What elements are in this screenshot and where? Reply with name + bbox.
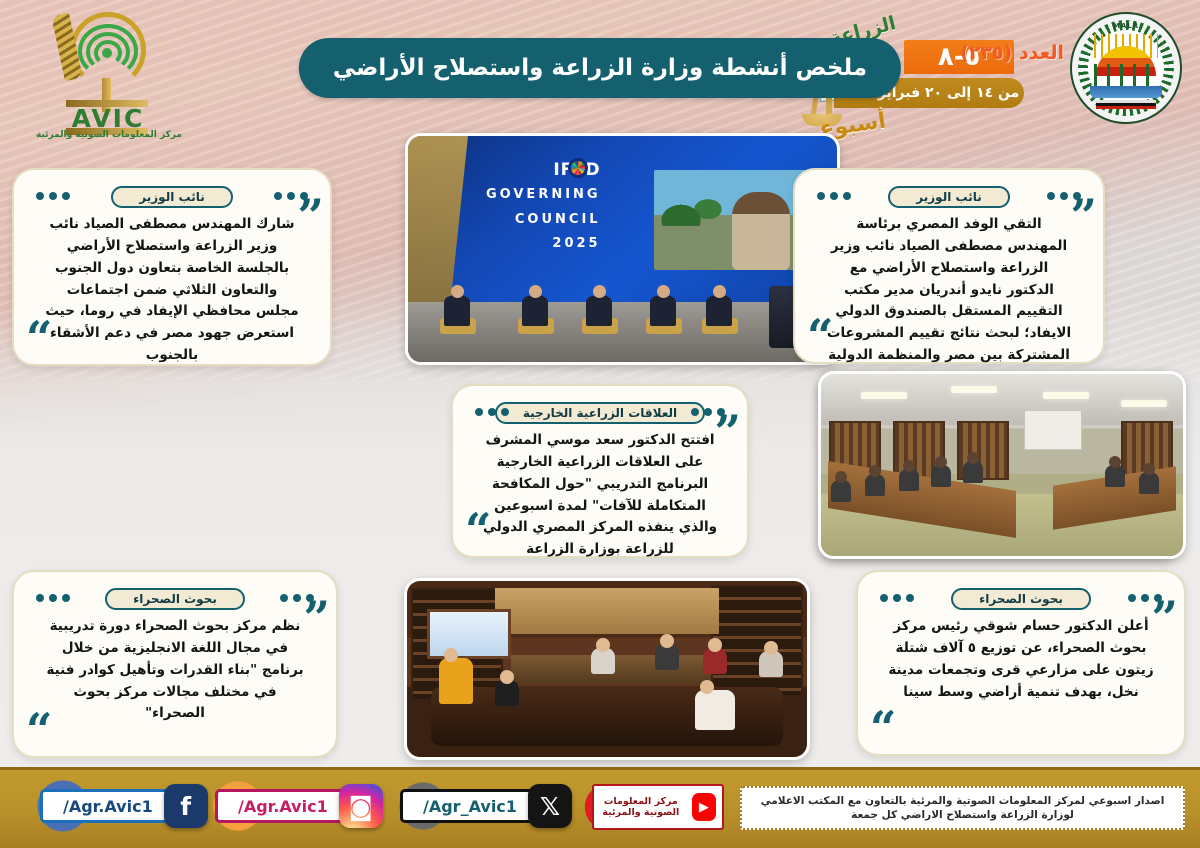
x-handle[interactable]: /Agr_Avic1 [400,789,534,823]
quote-open-icon: ” [304,602,330,634]
card-deputy-minister-south-cooperation: نائب الوزير ” شارك المهندس مصطفى الصياد … [12,168,332,366]
ifad-event-line2: COUNCIL [486,210,601,230]
quote-close-icon: “ [26,322,52,354]
card-text: نظم مركز بحوث الصحراء دورة تدريبية في مج… [34,616,316,725]
instagram-icon[interactable]: ◙ [339,784,383,828]
page-footer: f /Agr.Avic1 ◙ /Agr.Avic1 𝕏 /Agr_Avic1 ▶… [0,770,1200,848]
social-link-instagram[interactable]: ◙ /Agr.Avic1 [215,784,383,828]
card-text: التقي الوفد المصري برئاسة المهندس مصطفى … [815,214,1083,367]
card-badge: العلاقات الزراعية الخارجية [495,402,705,424]
social-link-youtube[interactable]: ▶ مركز المعلومات الصوتية والمرئية [592,784,724,830]
x-twitter-icon[interactable]: 𝕏 [528,784,572,828]
footer-note: اصدار اسبوعي لمركز المعلومات الصوتية وال… [740,786,1185,830]
quote-open-icon: ” [715,416,741,448]
ifad-event-year: 2025 [486,234,601,254]
quote-close-icon: “ [870,712,896,744]
card-badge-row: بحوث الصحراء [878,586,1164,612]
card-badge: بحوث الصحراء [105,588,245,610]
broadcast-waves-icon [80,22,136,74]
ifad-governing-council-photo: IFAD GOVERNING COUNCIL 2025 [405,133,840,365]
quote-close-icon: “ [465,514,491,546]
card-badge: بحوث الصحراء [951,588,1091,610]
sdg-wheel-icon [568,158,588,178]
quote-close-icon: “ [807,320,833,352]
egypt-flag-icon [1096,100,1156,109]
malr-logo-text: MALR [1078,22,1174,30]
facebook-icon[interactable]: f [164,784,208,828]
decor-dots-left [817,192,851,200]
card-badge: نائب الوزير [111,186,232,208]
card-text: أعلن الدكتور حسام شوقي رئيس مركز بحوث ال… [878,616,1164,703]
card-desert-research-english-course: بحوث الصحراء ” نظم مركز بحوث الصحراء دور… [12,570,338,758]
quote-open-icon: ” [1152,602,1178,634]
page-title: ملخص أنشطة وزارة الزراعة واستصلاح الأراض… [299,38,901,98]
water-icon [1090,86,1162,98]
card-external-agricultural-relations: العلاقات الزراعية الخارجية ” افتتح الدكت… [451,384,749,558]
avic-logo-text: AVIC [62,104,154,128]
conference-room-meeting-photo [818,371,1186,559]
quote-open-icon: ” [1071,200,1097,232]
card-desert-research-olive-seedlings: بحوث الصحراء ” أعلن الدكتور حسام شوقي رئ… [856,570,1186,756]
card-badge-row: نائب الوزير [815,184,1083,210]
avic-logo-subtitle: مركز المعلومات الصوتية والمرئية [34,130,184,140]
card-deputy-minister-ifad-evaluation: نائب الوزير ” التقي الوفد المصري برئاسة … [793,168,1105,364]
card-badge: نائب الوزير [888,186,1009,208]
social-link-facebook[interactable]: f /Agr.Avic1 [40,784,208,828]
card-text: شارك المهندس مصطفى الصياد نائب وزير الزر… [34,214,310,367]
instagram-handle[interactable]: /Agr.Avic1 [215,789,345,823]
decor-dots-left [475,408,509,416]
card-badge-row: نائب الوزير [34,184,310,210]
decor-dots-left [36,594,70,602]
quote-close-icon: “ [26,714,52,746]
facebook-handle[interactable]: /Agr.Avic1 [40,789,170,823]
page-header: MALR ٥-٨ العدد (٢٣٥) من ١٤ إلى ٢٠ فبراير… [0,0,1200,140]
issue-number-label: العدد (٢٣٥) [960,42,1064,64]
footer-divider [0,767,1200,770]
avic-logo: AVIC مركز المعلومات الصوتية والمرئية [18,8,178,138]
ifad-event-line1: GOVERNING [486,185,601,205]
youtube-icon[interactable]: ▶ [692,793,716,821]
quote-open-icon: ” [298,200,324,232]
card-badge-row: بحوث الصحراء [34,586,316,612]
card-text: افتتح الدكتور سعد موسي المشرف على العلاق… [473,430,727,561]
youtube-handle[interactable]: مركز المعلومات الصوتية والمرئية [594,796,688,819]
social-link-x[interactable]: 𝕏 /Agr_Avic1 [400,784,572,828]
plants-icon [1094,64,1158,86]
decor-dots-left [36,192,70,200]
malr-ministry-logo: MALR [1070,12,1182,124]
decor-dots-left [880,594,914,602]
card-badge-row: العلاقات الزراعية الخارجية [473,400,727,426]
training-session-library-photo [404,578,810,760]
